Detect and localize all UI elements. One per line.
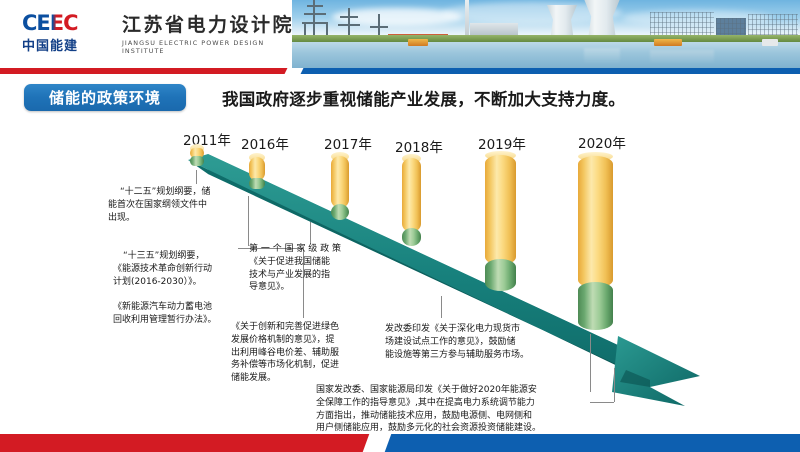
logo-mark-text: CEEC [22,12,112,34]
pillar-2018 [402,158,421,246]
bus-vehicle-1 [654,39,682,46]
institute-name-cn: 江苏省电力设计院 [122,14,297,36]
note-2017: 第 一 个 国 家 级 政 策 《关于促进我国储能 技术与产业发展的指 导意见》… [249,243,361,294]
pillar-2011 [190,148,204,166]
transmission-tower-icon [298,0,332,38]
pillar-body [331,156,349,208]
pillar-2020 [578,156,613,330]
transmission-tower-icon-2 [336,8,362,38]
header-divider-rule [0,68,800,74]
note-2018: 《关于创新和完善促进绿色 发展价格机制的意见》，提 出利用峰谷电价差、辅助服 务… [231,321,349,385]
car-vehicle [762,39,778,46]
pillar-body [578,156,613,288]
tower-reflection [584,48,620,64]
footer-bar [0,434,800,452]
slide-root: CEEC 中国能建 江苏省电力设计院 JIANGSU ELECTRIC POWE… [0,0,800,452]
pillar-base [485,259,516,291]
pillar-body [485,155,516,265]
leader-line-2016 [248,196,249,246]
note-2011: “十二五”规划纲要，储 能首次在国家纲领文件中 出现。 [108,186,248,224]
pillar-base [190,156,204,166]
year-label-2018: 2018年 [395,136,443,156]
pillar-base [331,204,349,220]
bus-vehicle-2 [408,39,428,46]
year-label-2019: 2019年 [478,133,526,153]
power-plant-photo [292,0,800,68]
note-2016: “十三五”规划纲要， 《能源技术革命创新行动 计划(2016-2030）》。 《… [113,250,263,327]
institute-name: 江苏省电力设计院 JIANGSU ELECTRIC POWER DESIGN I… [122,14,297,55]
pillar-base [249,178,265,189]
leader-line-2019 [441,296,442,318]
leader-line-2020-drop [614,368,615,402]
year-label-2016: 2016年 [241,133,289,153]
header-banner: CEEC 中国能建 江苏省电力设计院 JIANGSU ELECTRIC POWE… [0,0,800,68]
water-reflection [292,42,800,68]
leader-line-2017 [310,222,311,244]
chimney-stack [465,0,469,37]
note-2019: 发改委印发《关于深化电力现货市 场建设试点工作的意见》，鼓励储 能设施等第三方参… [385,323,593,361]
leader-line-2011 [196,170,197,184]
pillar-2016 [249,157,265,189]
pillar-2017 [331,156,349,220]
year-label-2017: 2017年 [324,133,372,153]
page-title: 我国政府逐步重视储能产业发展，不断加大支持力度。 [222,86,712,110]
section-title-pill[interactable]: 储能的政策环境 [24,84,186,111]
pillar-base [402,228,421,246]
logo-cn-text: 中国能建 [22,35,112,54]
note-2020: 国家发改委、国家能源局印发《关于做好2020年能源安 全保障工作的指导意见》,其… [316,384,610,435]
company-logo: CEEC 中国能建 [22,12,112,54]
year-label-2020: 2020年 [578,132,626,152]
pillar-body [402,158,421,232]
pillar-2019 [485,155,516,291]
building-reflection [650,50,714,64]
institute-name-en: JIANGSU ELECTRIC POWER DESIGN INSTITUTE [122,39,297,55]
